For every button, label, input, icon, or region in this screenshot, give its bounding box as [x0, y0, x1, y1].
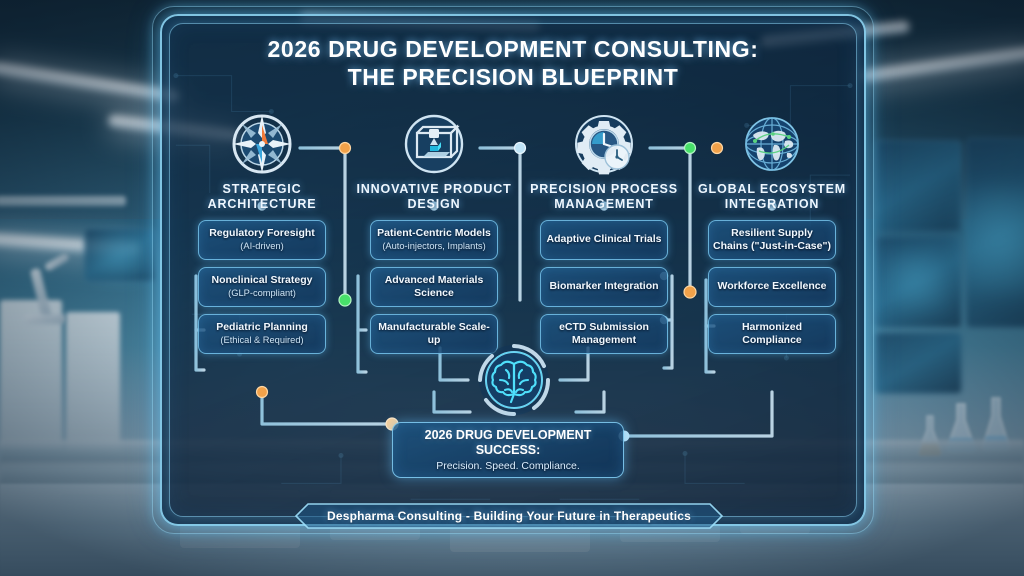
card-subtitle: (AI-driven) [240, 241, 283, 252]
card-title: Biomarker Integration [549, 280, 658, 293]
card-title: Resilient Supply Chains ("Just-in-Case") [713, 227, 831, 252]
card-title: Harmonized Compliance [713, 321, 831, 346]
brain-hub[interactable] [476, 342, 552, 418]
card-title: eCTD Submission Management [545, 321, 663, 346]
success-headline: 2026 DRUG DEVELOPMENT SUCCESS: [393, 428, 623, 458]
pillar-global-ecosystem-integration[interactable]: GLOBAL ECOSYSTEM INTEGRATION Resilient S… [689, 112, 855, 354]
card-adaptive-clinical-trials[interactable]: Adaptive Clinical Trials [540, 220, 668, 260]
card-resilient-supply-chains[interactable]: Resilient Supply Chains ("Just-in-Case") [708, 220, 836, 260]
gear-clock-icon [521, 112, 687, 176]
card-title: Nonclinical Strategy [212, 274, 313, 287]
pillar-precision-process-management[interactable]: PRECISION PROCESS MANAGEMENT Adaptive Cl… [521, 112, 687, 354]
card-biomarker-integration[interactable]: Biomarker Integration [540, 267, 668, 307]
card-harmonized-compliance[interactable]: Harmonized Compliance [708, 314, 836, 354]
pillar-heading: PRECISION PROCESS MANAGEMENT [521, 182, 687, 213]
success-callout[interactable]: 2026 DRUG DEVELOPMENT SUCCESS: Precision… [392, 422, 624, 478]
footer-banner: Despharma Consulting - Building Your Fut… [294, 502, 724, 530]
card-subtitle: (Auto-injectors, Implants) [382, 241, 485, 252]
page-title: 2026 DRUG DEVELOPMENT CONSULTING: THE PR… [160, 36, 866, 91]
pillar-heading: INNOVATIVE PRODUCT DESIGN [351, 182, 517, 213]
pillar-heading: GLOBAL ECOSYSTEM INTEGRATION [689, 182, 855, 213]
card-title: Pediatric Planning [216, 321, 308, 334]
card-title: Advanced Materials Science [375, 274, 493, 299]
card-subtitle: (GLP-compliant) [228, 288, 296, 299]
compass-icon [179, 112, 345, 176]
card-subtitle: (Ethical & Required) [220, 335, 303, 346]
globe-icon [689, 112, 855, 176]
card-pediatric-planning[interactable]: Pediatric Planning (Ethical & Required) [198, 314, 326, 354]
card-title: Regulatory Foresight [209, 227, 315, 240]
brain-icon [476, 342, 552, 418]
card-title: Patient-Centric Models [377, 227, 491, 240]
pillar-innovative-product-design[interactable]: INNOVATIVE PRODUCT DESIGN Patient-Centri… [351, 112, 517, 354]
card-advanced-materials-science[interactable]: Advanced Materials Science [370, 267, 498, 307]
card-regulatory-foresight[interactable]: Regulatory Foresight (AI-driven) [198, 220, 326, 260]
success-tagline: Precision. Speed. Compliance. [436, 460, 580, 472]
card-nonclinical-strategy[interactable]: Nonclinical Strategy (GLP-compliant) [198, 267, 326, 307]
card-title: Adaptive Clinical Trials [547, 233, 662, 246]
card-title: Workforce Excellence [718, 280, 827, 293]
pillar-heading: STRATEGIC ARCHITECTURE [179, 182, 345, 213]
3d-printer-icon [351, 112, 517, 176]
footer-text: Despharma Consulting - Building Your Fut… [294, 502, 724, 530]
card-ectd-submission-management[interactable]: eCTD Submission Management [540, 314, 668, 354]
card-patient-centric-models[interactable]: Patient-Centric Models (Auto-injectors, … [370, 220, 498, 260]
card-workforce-excellence[interactable]: Workforce Excellence [708, 267, 836, 307]
page-title-line-1: 2026 DRUG DEVELOPMENT CONSULTING: [160, 36, 866, 64]
page-title-line-2: THE PRECISION BLUEPRINT [160, 64, 866, 92]
pillar-strategic-architecture[interactable]: STRATEGIC ARCHITECTURE Regulatory Foresi… [179, 112, 345, 354]
